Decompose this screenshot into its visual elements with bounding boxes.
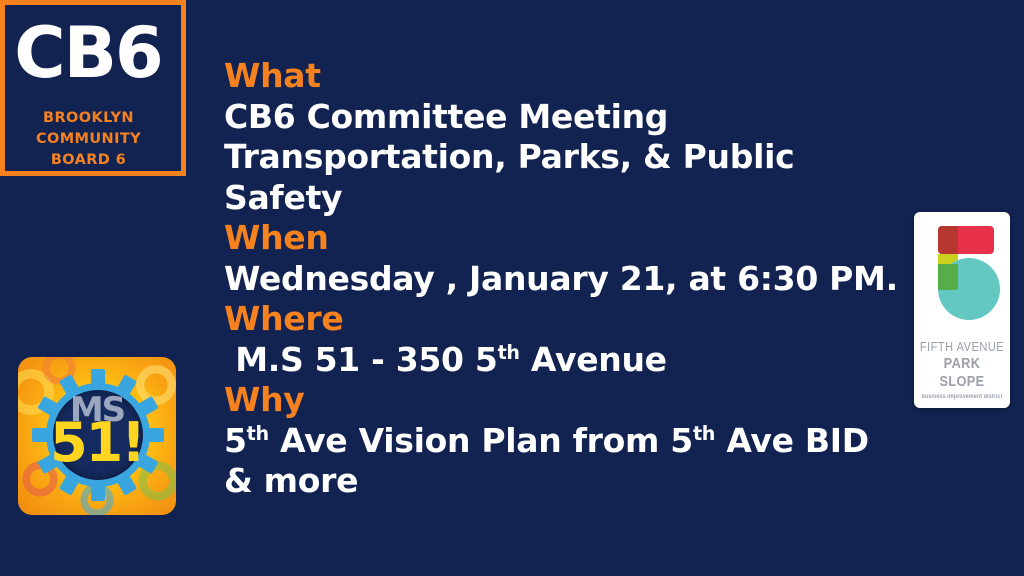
why-line-2: & more xyxy=(224,461,924,502)
bid-line-1: FIFTH AVENUE xyxy=(920,340,1004,355)
where-value: M.S 51 - 350 5th Avenue xyxy=(224,340,924,381)
cb6-logo: CB6 BROOKLYN COMMUNITY BOARD 6 xyxy=(0,0,186,176)
why-segment-c: Ave BID xyxy=(715,421,869,460)
what-line-3: Safety xyxy=(224,178,924,219)
cb6-wordmark: CB6 xyxy=(0,14,176,92)
flyer-canvas: CB6 BROOKLYN COMMUNITY BOARD 6 xyxy=(0,0,1024,576)
why-ordinal-suffix-1: th xyxy=(247,422,269,445)
why-label: Why xyxy=(224,380,924,421)
flyer-copy: What CB6 Committee Meeting Transportatio… xyxy=(224,56,924,502)
bid-line-3: business improvement district xyxy=(919,392,1005,402)
cb6-subtitle: BROOKLYN COMMUNITY BOARD 6 xyxy=(4,108,173,171)
bid-line-2: PARK SLOPE xyxy=(920,355,1004,391)
why-segment-a: 5 xyxy=(224,421,247,460)
why-line-1: 5th Ave Vision Plan from 5th Ave BID xyxy=(224,421,924,462)
where-label: Where xyxy=(224,299,924,340)
cb6-subtitle-line1: BROOKLYN xyxy=(4,108,173,129)
bid-five-mark-icon xyxy=(925,226,999,330)
when-value: Wednesday , January 21, at 6:30 PM. xyxy=(224,259,924,300)
what-label: What xyxy=(224,56,924,97)
bid-green-overlap xyxy=(938,264,958,290)
where-ordinal-suffix: th xyxy=(498,341,520,364)
fifth-avenue-bid-logo: FIFTH AVENUE PARK SLOPE business improve… xyxy=(914,212,1010,408)
cb6-subtitle-line2: COMMUNITY BOARD 6 xyxy=(4,129,173,171)
why-segment-b: Ave Vision Plan from 5 xyxy=(269,421,693,460)
when-label: When xyxy=(224,218,924,259)
ms51-school-logo: MS 51! xyxy=(18,357,176,515)
what-line-1: CB6 Committee Meeting xyxy=(224,97,924,138)
bid-wordmark: FIFTH AVENUE PARK SLOPE business improve… xyxy=(914,340,1010,402)
bid-red-dark-overlap xyxy=(938,226,958,254)
why-ordinal-suffix-2: th xyxy=(693,422,715,445)
where-value-post: Avenue xyxy=(520,340,667,379)
what-line-2: Transportation, Parks, & Public xyxy=(224,137,924,178)
where-value-pre: M.S 51 - 350 5 xyxy=(224,340,498,379)
ms51-number-text: 51! xyxy=(18,415,176,471)
